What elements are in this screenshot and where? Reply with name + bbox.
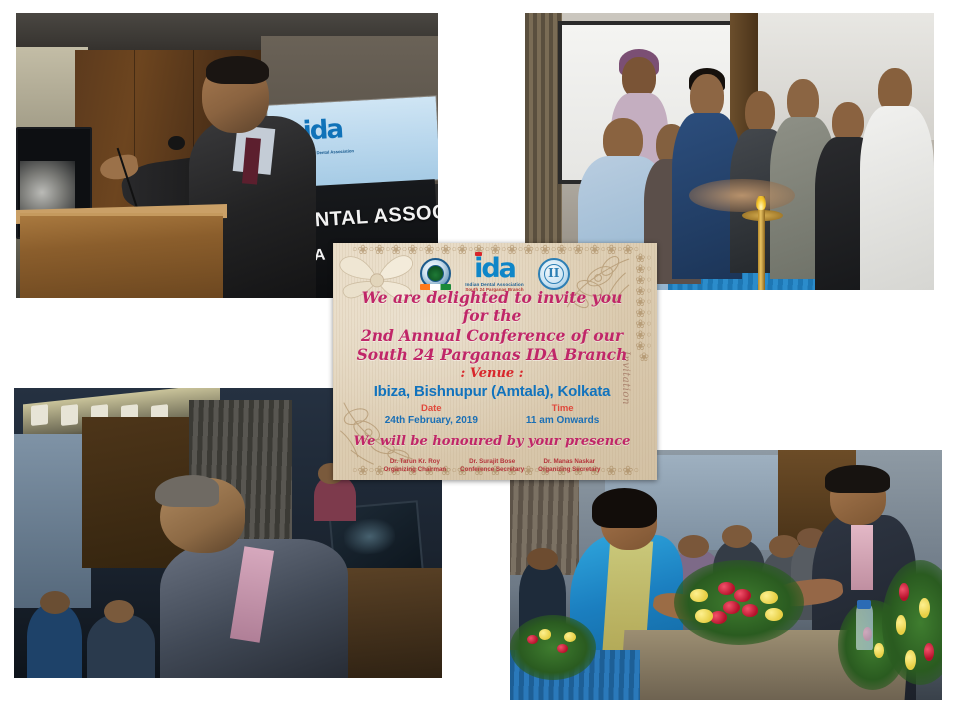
yellow-flower [760,591,778,605]
ida-seal-icon: II [538,258,570,290]
ida-logo-mark: ida [474,255,515,282]
ida-logo-text: ida [302,113,396,149]
red-rose [899,583,909,602]
audience-head [40,591,70,614]
person-white-shirt [860,68,934,290]
bouquet-foliage [510,615,596,680]
ceiling-light [31,404,48,426]
flower-bouquet-main [674,560,804,645]
invitation-line-1: We are delighted to invite you for the [349,289,635,326]
yellow-flower [695,609,713,623]
card-logo-row: ida Indian Dental Association South 24 P… [333,255,657,292]
yellow-flower [539,629,551,639]
bouquet-presentation-scene [510,450,942,700]
date-label: Date [385,403,478,414]
yellow-flower [905,650,916,670]
invitation-text-block: We are delighted to invite you for the 2… [349,289,635,473]
signatory-name: Dr. Manas Naskar [538,458,600,465]
red-rose [734,589,751,602]
ceremonial-lamp-stand [758,196,765,290]
lady-hair [592,488,657,528]
red-rose [557,644,568,654]
wooden-podium [20,213,223,299]
time-value: 11 am Onwards [526,415,599,426]
dental-council-emblem-icon [420,258,451,289]
guest-hair [825,465,890,493]
invitation-card[interactable]: ◦❀◦❀◦❀◦❀◦❀◦❀◦❀◦❀◦❀◦❀◦❀◦❀◦❀◦❀◦❀◦❀◦❀◦ ◦❀◦❀… [333,243,657,480]
photo-bouquet-presentation[interactable]: Woman in blue saree presenting a flower … [510,450,942,700]
date-value: 24th February, 2019 [385,415,478,426]
signatory-role: Conference Secretary [460,466,524,473]
microphone-head [168,136,185,150]
red-rose [723,601,740,614]
bottle-cap [857,600,871,609]
seated-guest-head [722,525,752,548]
flower-bouquet-right [882,560,942,685]
seated-guest-head [678,535,708,558]
venue-value: Ibiza, Bishnupur (Amtala), Kolkata [349,383,635,400]
yellow-flower [919,598,930,618]
invitation-line-2: 2nd Annual Conference of our [349,327,635,345]
red-rose [710,611,727,624]
signatory-role: Organizing Secretary [538,466,600,473]
yellow-flower [765,608,783,622]
signatory-name: Dr. Tarun Kr. Roy [384,458,447,465]
audience-head [104,600,134,623]
signatory-organizing-secretary: Dr. Manas Naskar Organizing Secretary [538,458,600,473]
curtain [525,13,562,257]
laptop-glow [342,516,396,555]
honour-line: We will be honoured by your presence [349,434,635,449]
ceiling-light [61,404,78,426]
signatory-conference-secretary: Dr. Surajit Bose Conference Secretary [460,458,524,473]
signatory-role: Organizing Chairman [384,466,447,473]
date-time-row: Date 24th February, 2019 Time 11 am Onwa… [349,403,635,426]
venue-label: : Venue : [349,366,635,381]
guest-tie [851,525,873,590]
signatory-name: Dr. Surajit Bose [460,458,524,465]
photo-collage: ida Indian Dental Association N DENTAL A… [0,0,960,720]
red-rose [742,604,759,617]
blue-wall [14,434,91,608]
speaker-hair [206,56,269,85]
red-rose [718,582,735,595]
ida-logo: ida Indian Dental Association South 24 P… [465,255,523,292]
seated-guest-head [527,548,557,571]
yellow-flower [564,632,576,642]
time-label: Time [526,403,599,414]
body [860,106,934,290]
audience-member [87,614,155,678]
invitation-line-3: South 24 Parganas IDA Branch [349,346,635,364]
flower-bouquet-left [510,615,596,680]
lamp-flame [756,196,766,210]
bouquet-foliage [674,560,804,645]
red-rose [924,643,934,662]
date-column: Date 24th February, 2019 [385,403,478,426]
time-column: Time 11 am Onwards [526,403,599,426]
seal-glyph: II [540,266,568,280]
signatory-row: Dr. Tarun Kr. Roy Organizing Chairman Dr… [349,458,635,473]
head [622,57,655,97]
signatory-organizing-chairman: Dr. Tarun Kr. Roy Organizing Chairman [384,458,447,473]
water-bottle [856,605,873,650]
